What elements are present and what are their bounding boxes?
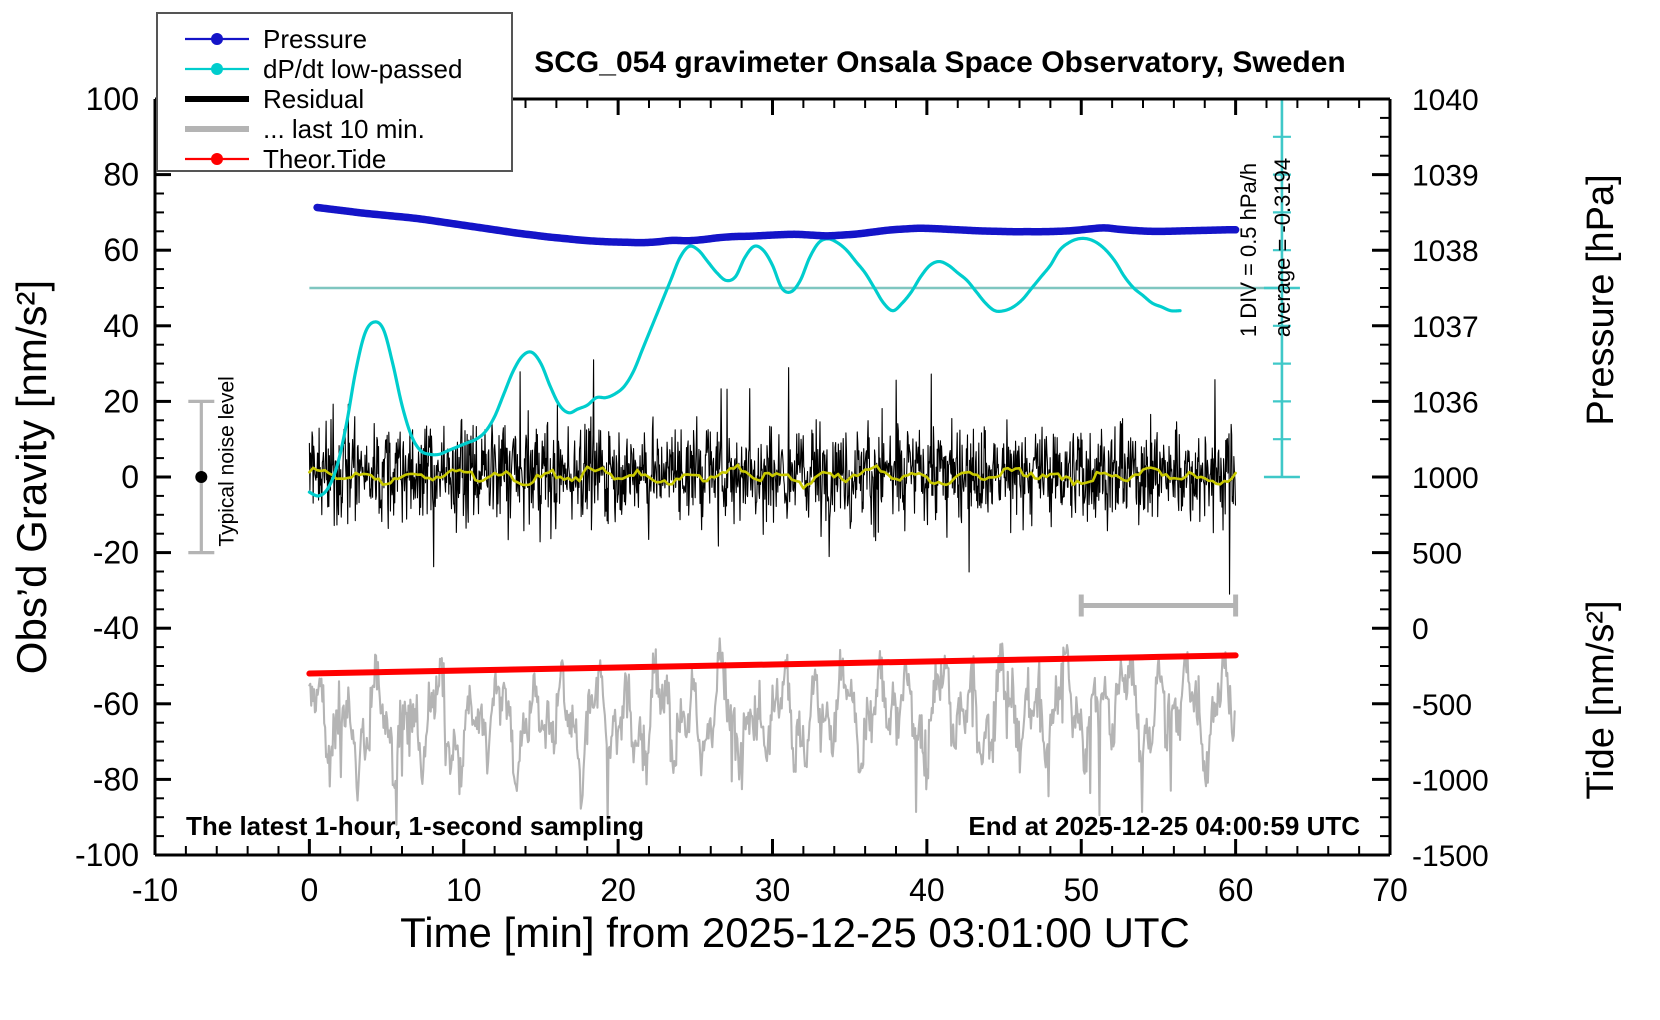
ytick-label: 100 xyxy=(86,81,139,117)
ytick-label: 60 xyxy=(103,232,139,268)
ytick-label: -20 xyxy=(93,535,139,571)
xtick-label: 20 xyxy=(600,872,636,908)
pressure-tick-label: 1036 xyxy=(1412,386,1479,419)
tide-tick-label: 0 xyxy=(1412,613,1429,646)
chart-canvas: 1 DIV = 0.5 hPa/haverage = -0.3194Typica… xyxy=(0,0,1660,1020)
ytick-label: -100 xyxy=(75,837,139,873)
legend-label-0: Pressure xyxy=(263,24,367,54)
tide-tick-label: -1500 xyxy=(1412,840,1489,873)
gravimeter-plot: 1 DIV = 0.5 hPa/haverage = -0.3194Typica… xyxy=(0,0,1660,1020)
tide-tick-label: 1000 xyxy=(1412,462,1479,495)
legend-marker-dot xyxy=(211,63,223,75)
xtick-label: 70 xyxy=(1372,872,1408,908)
series-dpdt-lowpassed xyxy=(309,238,1180,496)
xtick-label: 0 xyxy=(300,872,318,908)
legend-marker-dot xyxy=(211,153,223,165)
ytick-label: -60 xyxy=(93,686,139,722)
x-axis-label: Time [min] from 2025-12-25 03:01:00 UTC xyxy=(400,909,1190,956)
xtick-label: 60 xyxy=(1218,872,1254,908)
legend-label-4: Theor.Tide xyxy=(263,144,386,174)
tide-axis-label: Tide [nm/s²] xyxy=(1580,600,1622,799)
xtick-label: -10 xyxy=(132,872,178,908)
tide-tick-label: -500 xyxy=(1412,689,1472,722)
pressure-tick-label: 1040 xyxy=(1412,84,1479,117)
pressure-tick-label: 1038 xyxy=(1412,235,1479,268)
xtick-label: 40 xyxy=(909,872,945,908)
legend-label-3: ... last 10 min. xyxy=(263,114,425,144)
series-theor-tide xyxy=(309,655,1235,673)
footer-right-label: End at 2025-12-25 04:00:59 UTC xyxy=(968,811,1360,841)
chart-title: SCG_054 gravimeter Onsala Space Observat… xyxy=(534,46,1346,79)
legend-label-1: dP/dt low-passed xyxy=(263,54,462,84)
series-pressure xyxy=(317,207,1236,242)
tide-tick-label: 500 xyxy=(1412,538,1462,571)
tide-tick-label: -1000 xyxy=(1412,764,1489,797)
ytick-label: -80 xyxy=(93,761,139,797)
y-axis-label: Obs’d Gravity [nm/s²] xyxy=(8,280,55,674)
ytick-label: 80 xyxy=(103,157,139,193)
legend-marker-dot xyxy=(211,33,223,45)
ytick-label: 0 xyxy=(121,459,139,495)
ytick-label: 40 xyxy=(103,308,139,344)
xtick-label: 10 xyxy=(446,872,482,908)
noise-marker-dot xyxy=(195,471,207,483)
footer-left-label: The latest 1-hour, 1-second sampling xyxy=(186,811,644,841)
pressure-tick-label: 1037 xyxy=(1412,311,1479,344)
scalebar-div-label: 1 DIV = 0.5 hPa/h xyxy=(1236,163,1261,337)
noise-level-label: Typical noise level xyxy=(215,376,238,546)
ytick-label: -40 xyxy=(93,610,139,646)
pressure-axis-label: Pressure [hPa] xyxy=(1580,174,1622,425)
legend-label-2: Residual xyxy=(263,84,364,114)
pressure-tick-label: 1039 xyxy=(1412,160,1479,193)
xtick-label: 30 xyxy=(755,872,791,908)
xtick-label: 50 xyxy=(1063,872,1099,908)
ytick-label: 20 xyxy=(103,383,139,419)
scalebar-average-label: average = -0.3194 xyxy=(1270,158,1295,337)
